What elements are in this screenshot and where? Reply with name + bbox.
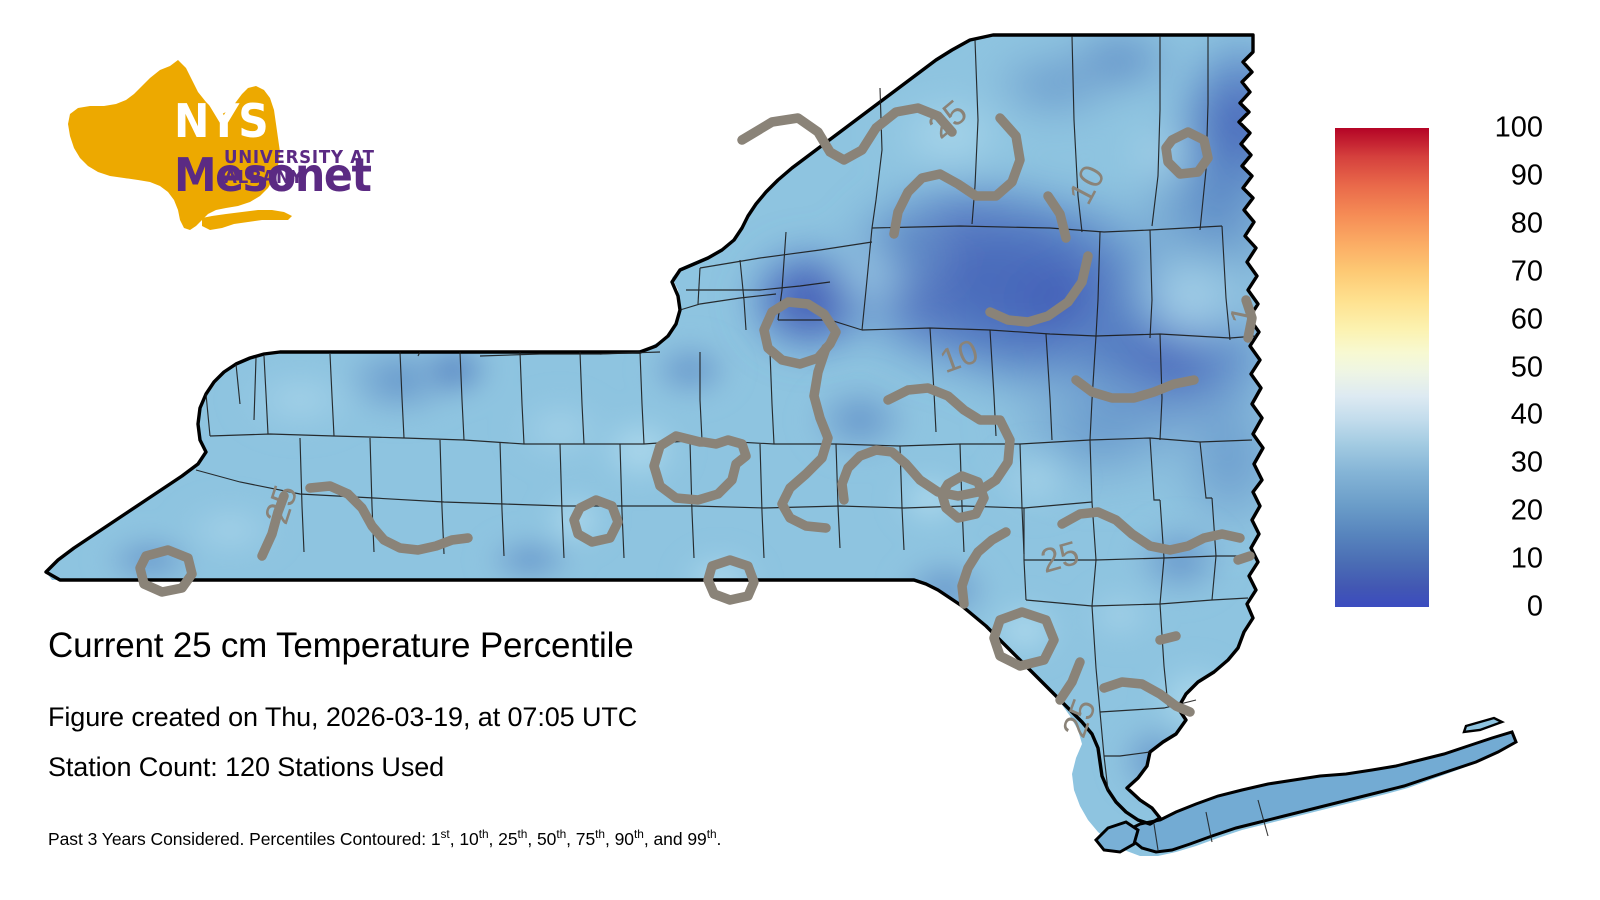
footnote-ordinal-suffix: th xyxy=(595,827,605,841)
footnote-ordinal-suffix: th xyxy=(479,827,489,841)
colorbar-tick-10: 10 xyxy=(1511,545,1543,574)
ny-long-island-silhouette xyxy=(202,210,292,230)
footnote-suffix: . xyxy=(717,829,722,849)
colorbar-gradient xyxy=(1335,128,1429,607)
colorbar-tick-50: 50 xyxy=(1511,353,1543,382)
colorbar-tick-labels: 1009080706050403020100 xyxy=(1435,128,1543,607)
footnote-ordinal-number: 25 xyxy=(498,829,517,849)
colorbar-tick-30: 30 xyxy=(1511,449,1543,478)
figure-footnote: Past 3 Years Considered. Percentiles Con… xyxy=(48,827,721,850)
footnote-ordinal-suffix: th xyxy=(556,827,566,841)
footnote-prefix: Past 3 Years Considered. Percentiles Con… xyxy=(48,829,431,849)
footnote-ordinal-suffix: th xyxy=(707,827,717,841)
footnote-ordinal-suffix: th xyxy=(634,827,644,841)
footnote-ordinal-number: 75 xyxy=(576,829,595,849)
colorbar-tick-40: 40 xyxy=(1511,401,1543,430)
colorbar-tick-90: 90 xyxy=(1511,161,1543,190)
colorbar-tick-20: 20 xyxy=(1511,497,1543,526)
colorbar-tick-80: 80 xyxy=(1511,209,1543,238)
colorbar-tick-70: 70 xyxy=(1511,257,1543,286)
fishers-island-shape xyxy=(1464,718,1502,732)
footnote-ordinal-number: 50 xyxy=(537,829,556,849)
footnote-ordinal-number: 1 xyxy=(431,829,441,849)
footnote-ordinal-number: 90 xyxy=(615,829,634,849)
colorbar-tick-100: 100 xyxy=(1495,114,1543,143)
colorbar[interactable]: 1009080706050403020100 xyxy=(1335,128,1429,607)
long-island-shape xyxy=(1128,732,1516,852)
logo-nys-text: NYS xyxy=(174,94,268,148)
figure-title: Current 25 cm Temperature Percentile xyxy=(48,626,633,666)
figure-canvas: 25 10 10 25 25 25 1 NYSMesonet UNIVERSIT… xyxy=(0,0,1600,900)
station-count-label: Station Count: 120 Stations Used xyxy=(48,752,444,783)
nys-mesonet-logo[interactable]: NYSMesonet UNIVERSITY AT ALBANY xyxy=(52,58,452,238)
footnote-ordinal-list: 1st, 10th, 25th, 50th, 75th, 90th, and 9… xyxy=(431,829,717,849)
footnote-ordinal-number: 10 xyxy=(459,829,478,849)
footnote-ordinal-suffix: th xyxy=(518,827,528,841)
footnote-ordinal-number: 99 xyxy=(687,829,706,849)
figure-created-timestamp: Figure created on Thu, 2026-03-19, at 07… xyxy=(48,702,637,733)
colorbar-tick-60: 60 xyxy=(1511,305,1543,334)
colorbar-tick-0: 0 xyxy=(1527,593,1543,622)
footnote-ordinal-suffix: st xyxy=(441,827,450,841)
logo-subtitle: UNIVERSITY AT ALBANY xyxy=(224,148,441,188)
